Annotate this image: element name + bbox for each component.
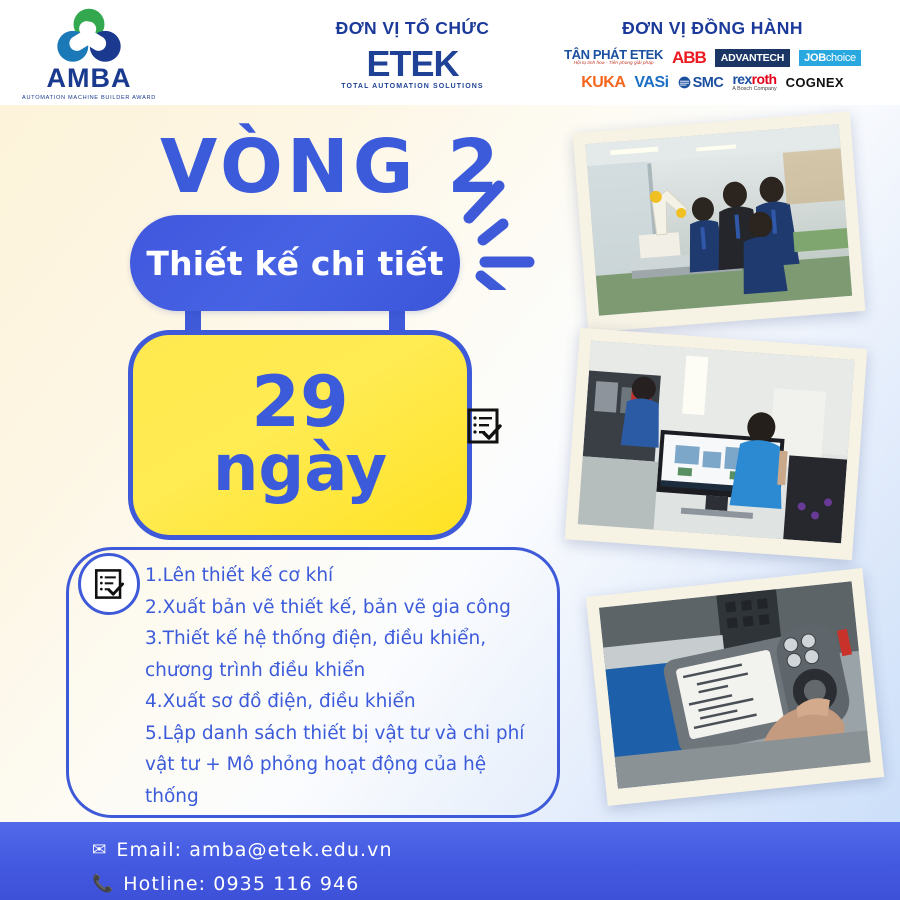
etek-wordmark: ETEK [300, 47, 525, 81]
clipboard-check-icon-badge [78, 553, 140, 615]
duration-box: 29 ngày [128, 330, 472, 540]
footer-hotline[interactable]: 📞 Hotline: 0935 116 946 [92, 873, 359, 895]
partners-block: ĐƠN VỊ ĐỒNG HÀNH TÂN PHÁT ETEK Hội tụ ti… [540, 20, 885, 94]
partner-logo-cognex: COGNEX [786, 75, 844, 90]
partner-logo-abb: ABB [672, 48, 706, 68]
round-subtitle: Thiết kế chi tiết [146, 244, 443, 283]
smc-swirl-icon [678, 76, 691, 89]
round-subtitle-pill: Thiết kế chi tiết [130, 215, 460, 311]
clipboard-check-icon [464, 406, 504, 446]
photo-students-with-robot-arm [573, 111, 866, 332]
partner-logo-smc: SMC [678, 75, 724, 91]
amba-triskelion-icon [52, 8, 126, 64]
partner-logo-advantech: ADVANTECH [715, 49, 790, 67]
jobchoice-job: JOB [804, 52, 826, 64]
partner-logo-vasi: VASi [634, 74, 668, 92]
etek-logo: ETEK TOTAL AUTOMATION SOLUTIONS [300, 47, 525, 90]
partner-logo-jobchoice: JOBchoice [799, 50, 861, 66]
phone-icon: 📞 [92, 876, 114, 893]
list-item: 5.Lập danh sách thiết bị vật tư và chi p… [145, 718, 545, 813]
photo-image [585, 124, 852, 315]
rexroth-tagline: A Bosch Company [732, 87, 776, 92]
footer-email-label: Email: amba@etek.edu.vn [116, 839, 392, 861]
footer-email[interactable]: ✉ Email: amba@etek.edu.vn [92, 839, 393, 861]
amba-logo: AMBA AUTOMATION MACHINE BUILDER AWARD [24, 8, 154, 100]
footer-hotline-label: Hotline: 0935 116 946 [123, 873, 359, 895]
partner-logo-row: KUKA VASi SMC rexroth A Bosch Company CO… [581, 72, 844, 94]
list-item: 3.Thiết kế hệ thống điện, điều khiển, ch… [145, 623, 545, 686]
amba-tagline: AUTOMATION MACHINE BUILDER AWARD [22, 95, 156, 101]
etek-tagline: TOTAL AUTOMATION SOLUTIONS [300, 83, 525, 90]
duration-unit: ngày [213, 437, 387, 501]
list-item: 4.Xuất sơ đồ điện, điều khiển [145, 686, 545, 718]
tanphat-name: TÂN PHÁT ETEK [564, 48, 663, 61]
list-item: 1.Lên thiết kế cơ khí [145, 560, 545, 592]
partners-caption: ĐƠN VỊ ĐỒNG HÀNH [540, 20, 885, 38]
partner-logo-row: TÂN PHÁT ETEK Hội tụ tinh hoa - Tiên pho… [564, 47, 861, 69]
tasks-list: 1.Lên thiết kế cơ khí 2.Xuất bản vẽ thiế… [145, 560, 545, 812]
poster-header: AMBA AUTOMATION MACHINE BUILDER AWARD ĐƠ… [0, 0, 900, 105]
smc-wordmark: SMC [693, 75, 724, 91]
tanphat-tagline: Hội tụ tinh hoa - Tiên phong giải pháp [574, 62, 654, 67]
partner-logo-rexroth: rexroth A Bosch Company [732, 72, 776, 92]
organizer-block: ĐƠN VỊ TỔ CHỨC ETEK TOTAL AUTOMATION SOL… [300, 20, 525, 90]
envelope-icon: ✉ [92, 842, 107, 859]
photo-image [599, 581, 871, 789]
list-item: 2.Xuất bản vẽ thiết kế, bản vẽ gia công [145, 592, 545, 624]
photo-image [578, 341, 855, 544]
photo-cad-workstation [565, 328, 868, 561]
amba-wordmark: AMBA [47, 65, 132, 92]
jobchoice-choice: choice [826, 52, 856, 64]
partner-logo-tanphat-etek: TÂN PHÁT ETEK Hội tụ tinh hoa - Tiên pho… [564, 48, 663, 67]
rexroth-wordmark: rexroth [732, 72, 776, 86]
partner-logo-grid: TÂN PHÁT ETEK Hội tụ tinh hoa - Tiên pho… [540, 47, 885, 94]
photo-teach-pendant [586, 568, 884, 806]
poster-canvas: AMBA AUTOMATION MACHINE BUILDER AWARD ĐƠ… [0, 0, 900, 900]
organizer-caption: ĐƠN VỊ TỔ CHỨC [300, 20, 525, 38]
round-title: VÒNG 2 [160, 130, 503, 204]
duration-number: 29 [251, 369, 348, 436]
poster-footer: ✉ Email: amba@etek.edu.vn 📞 Hotline: 093… [0, 822, 900, 900]
partner-logo-kuka: KUKA [581, 74, 625, 92]
sparkle-lines-icon [455, 170, 545, 290]
